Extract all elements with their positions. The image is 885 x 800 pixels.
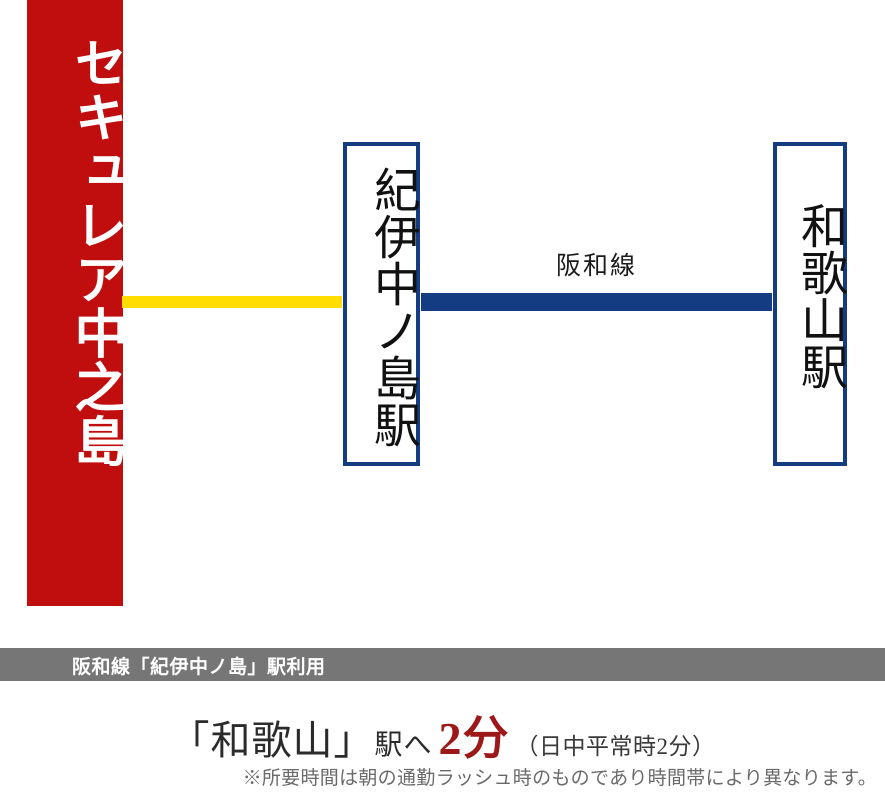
travel-destination-label: 「和歌山」 [169, 718, 374, 763]
access-walk-connector [122, 296, 346, 308]
travel-duration-value: 2分 [433, 713, 516, 764]
route-bar: 阪和線「紀伊中ノ島」駅利用 [0, 648, 885, 681]
station-access-diagram: セキュレア中之島 阪和線 紀伊中ノ島駅 和歌山駅 [0, 0, 885, 645]
property-name-label: セキュレア中之島 [27, 36, 123, 576]
station-box-kiichunoshima: 紀伊中ノ島駅 [343, 142, 420, 466]
access-summary-footer: 阪和線「紀伊中ノ島」駅利用 「和歌山」駅へ2分（日中平常時2分） ※所要時間は朝… [0, 645, 885, 800]
rail-line-label: 阪和線 [415, 246, 778, 282]
station-name-label: 和歌山駅 [777, 202, 843, 442]
travel-daytime-note: （日中平常時2分） [516, 734, 716, 759]
station-box-wakayama: 和歌山駅 [773, 142, 847, 466]
station-name-label: 紀伊中ノ島駅 [347, 166, 416, 456]
disclaimer-text: ※所要時間は朝の通勤ラッシュ時のものであり時間帯により異なります。 [0, 763, 885, 790]
rail-line-segment [415, 293, 778, 311]
travel-time-line: 「和歌山」駅へ2分（日中平常時2分） [0, 702, 885, 768]
route-bar-label: 阪和線「紀伊中ノ島」駅利用 [72, 652, 326, 679]
property-banner: セキュレア中之島 [27, 0, 123, 606]
travel-suffix-label: 駅へ [374, 730, 432, 761]
